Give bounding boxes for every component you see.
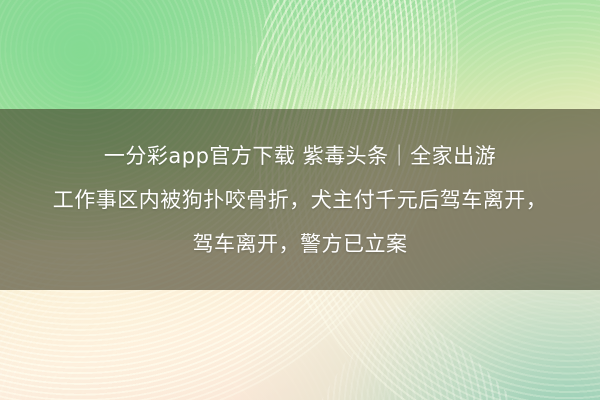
banner-image: 一分彩app官方下载 紫毒头条｜全家出游 工作事区内被狗扑咬骨折，犬主付千元后驾… [0,0,600,400]
caption-line-1: 一分彩app官方下载 紫毒头条｜全家出游 [104,134,496,178]
caption-line-3: 驾车离开，警方已立案 [193,222,408,266]
caption-line-2: 工作事区内被狗扑咬骨折，犬主付千元后驾车离开， [53,178,548,222]
caption-text-block: 一分彩app官方下载 紫毒头条｜全家出游 工作事区内被狗扑咬骨折，犬主付千元后驾… [0,109,600,290]
